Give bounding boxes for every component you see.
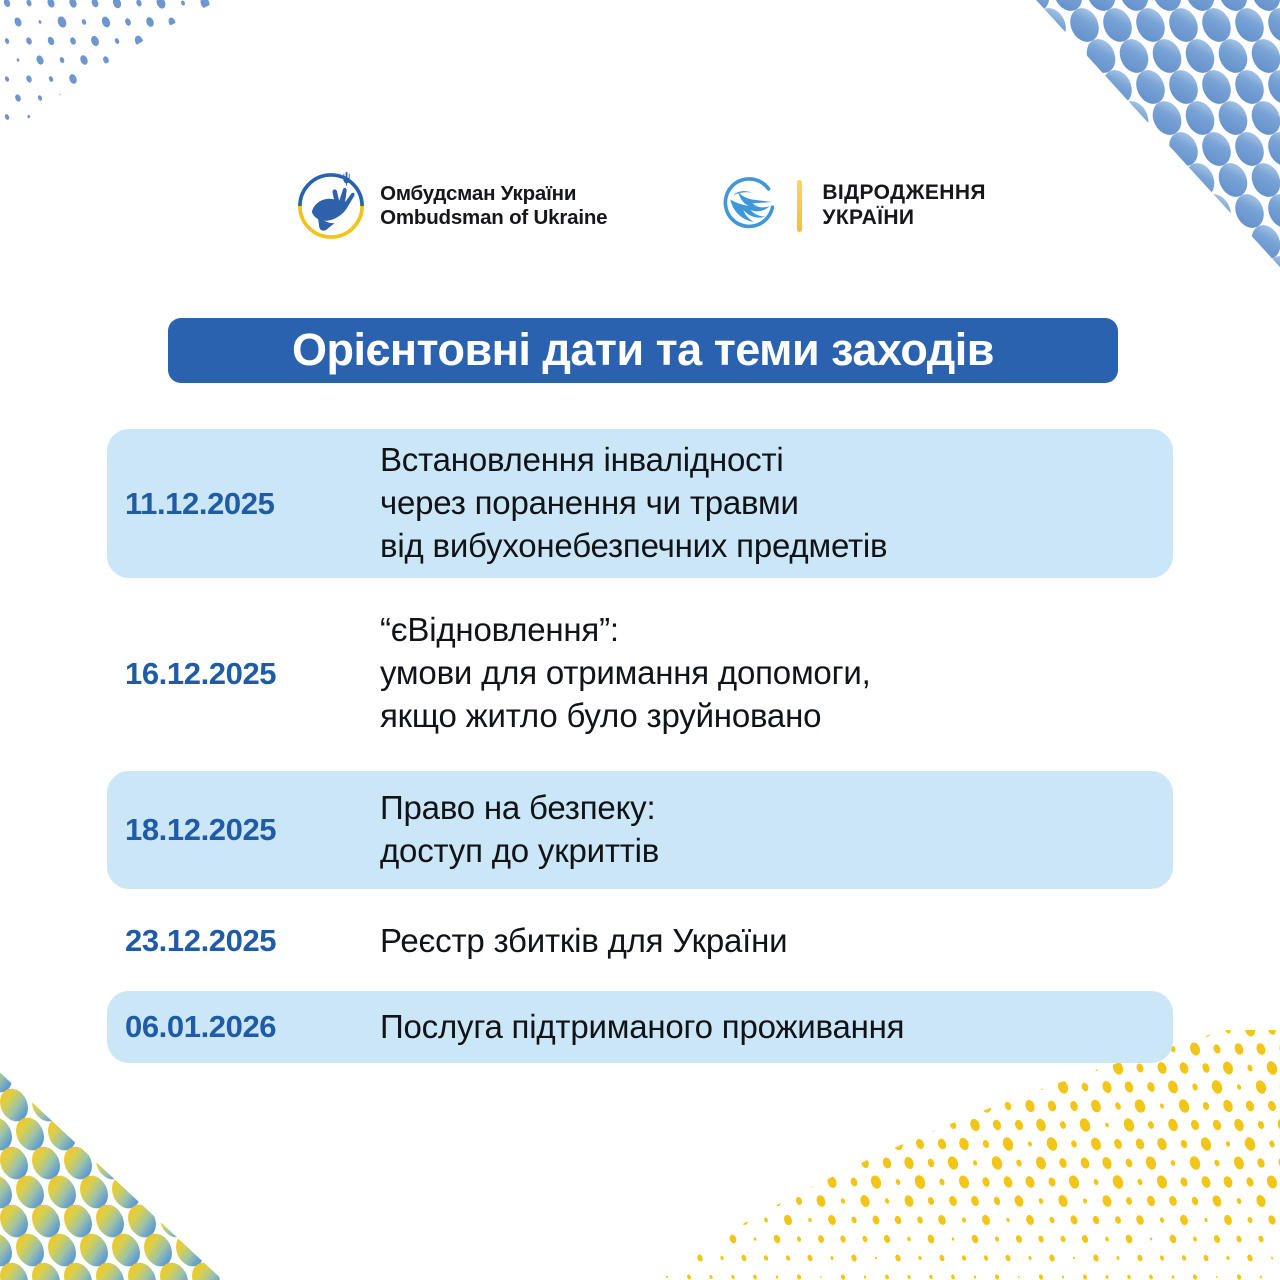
schedule-row-topic: Реєстр збитків для України bbox=[380, 920, 1173, 963]
schedule-row[interactable]: 06.01.2026 Послуга підтриманого проживан… bbox=[107, 991, 1173, 1063]
topic-line: якщо житло було зруйновано bbox=[380, 695, 1173, 738]
topic-line: Послуга підтриманого проживання bbox=[380, 1006, 1173, 1049]
schedule-row-topic: Встановлення інвалідності через пораненн… bbox=[380, 439, 1173, 568]
revival-logo-line-2: УКРАЇНИ bbox=[822, 206, 986, 231]
schedule-row-date: 23.12.2025 bbox=[125, 923, 380, 959]
ombudsman-logo-text: Омбудсман України Ombudsman of Ukraine bbox=[380, 182, 607, 230]
schedule-row-date: 18.12.2025 bbox=[125, 812, 380, 848]
poster-canvas: Омбудсман України Ombudsman of Ukraine В… bbox=[0, 0, 1280, 1280]
schedule-row-topic: “єВідновлення”: умови для отримання допо… bbox=[380, 609, 1173, 738]
schedule-row[interactable]: 11.12.2025 Встановлення інвалідності чер… bbox=[107, 429, 1173, 578]
revival-phoenix-emblem-icon bbox=[717, 173, 783, 239]
revival-logo-line-1: ВІДРОДЖЕННЯ bbox=[822, 181, 986, 206]
ombudsman-logo-line-uk: Омбудсман України bbox=[380, 182, 607, 206]
row-gap bbox=[107, 578, 1173, 586]
schedule-row[interactable]: 23.12.2025 Реєстр збитків для України bbox=[107, 901, 1173, 981]
revival-logo-text: ВІДРОДЖЕННЯ УКРАЇНИ bbox=[822, 181, 986, 231]
topic-line: Встановлення інвалідності bbox=[380, 439, 1173, 482]
logo-row: Омбудсман України Ombudsman of Ukraine В… bbox=[0, 158, 1280, 254]
ombudsman-logo: Омбудсман України Ombudsman of Ukraine bbox=[294, 169, 607, 243]
schedule-row-date: 11.12.2025 bbox=[125, 486, 380, 522]
topic-line: умови для отримання допомоги, bbox=[380, 652, 1173, 695]
topic-line: “єВідновлення”: bbox=[380, 609, 1173, 652]
topic-line: доступ до укриттів bbox=[380, 830, 1173, 873]
row-gap bbox=[107, 761, 1173, 771]
topic-line: Право на безпеку: bbox=[380, 787, 1173, 830]
page-title-banner: Орієнтовні дати та теми заходів bbox=[168, 318, 1118, 383]
schedule-row-topic: Право на безпеку: доступ до укриттів bbox=[380, 787, 1173, 873]
row-gap bbox=[107, 981, 1173, 991]
ombudsman-logo-line-en: Ombudsman of Ukraine bbox=[380, 206, 607, 230]
ombudsman-dove-emblem-icon bbox=[294, 169, 368, 243]
topic-line: від вибухонебезпечних предметів bbox=[380, 525, 1173, 568]
schedule-row-date: 06.01.2026 bbox=[125, 1009, 380, 1045]
schedule-row-topic: Послуга підтриманого проживання bbox=[380, 1006, 1173, 1049]
decorative-dots-bottom-right bbox=[600, 1030, 1280, 1280]
topic-line: Реєстр збитків для України bbox=[380, 920, 1173, 963]
row-gap bbox=[107, 889, 1173, 901]
decorative-dots-top-right bbox=[930, 0, 1280, 300]
revival-logo-divider bbox=[797, 180, 802, 232]
topic-line: через поранення чи травми bbox=[380, 482, 1173, 525]
page-title: Орієнтовні дати та теми заходів bbox=[292, 327, 994, 372]
schedule-list: 11.12.2025 Встановлення інвалідності чер… bbox=[107, 429, 1173, 1063]
schedule-row-date: 16.12.2025 bbox=[125, 656, 380, 692]
schedule-row[interactable]: 16.12.2025 “єВідновлення”: умови для отр… bbox=[107, 586, 1173, 761]
revival-logo: ВІДРОДЖЕННЯ УКРАЇНИ bbox=[717, 173, 986, 239]
schedule-row[interactable]: 18.12.2025 Право на безпеку: доступ до у… bbox=[107, 771, 1173, 889]
